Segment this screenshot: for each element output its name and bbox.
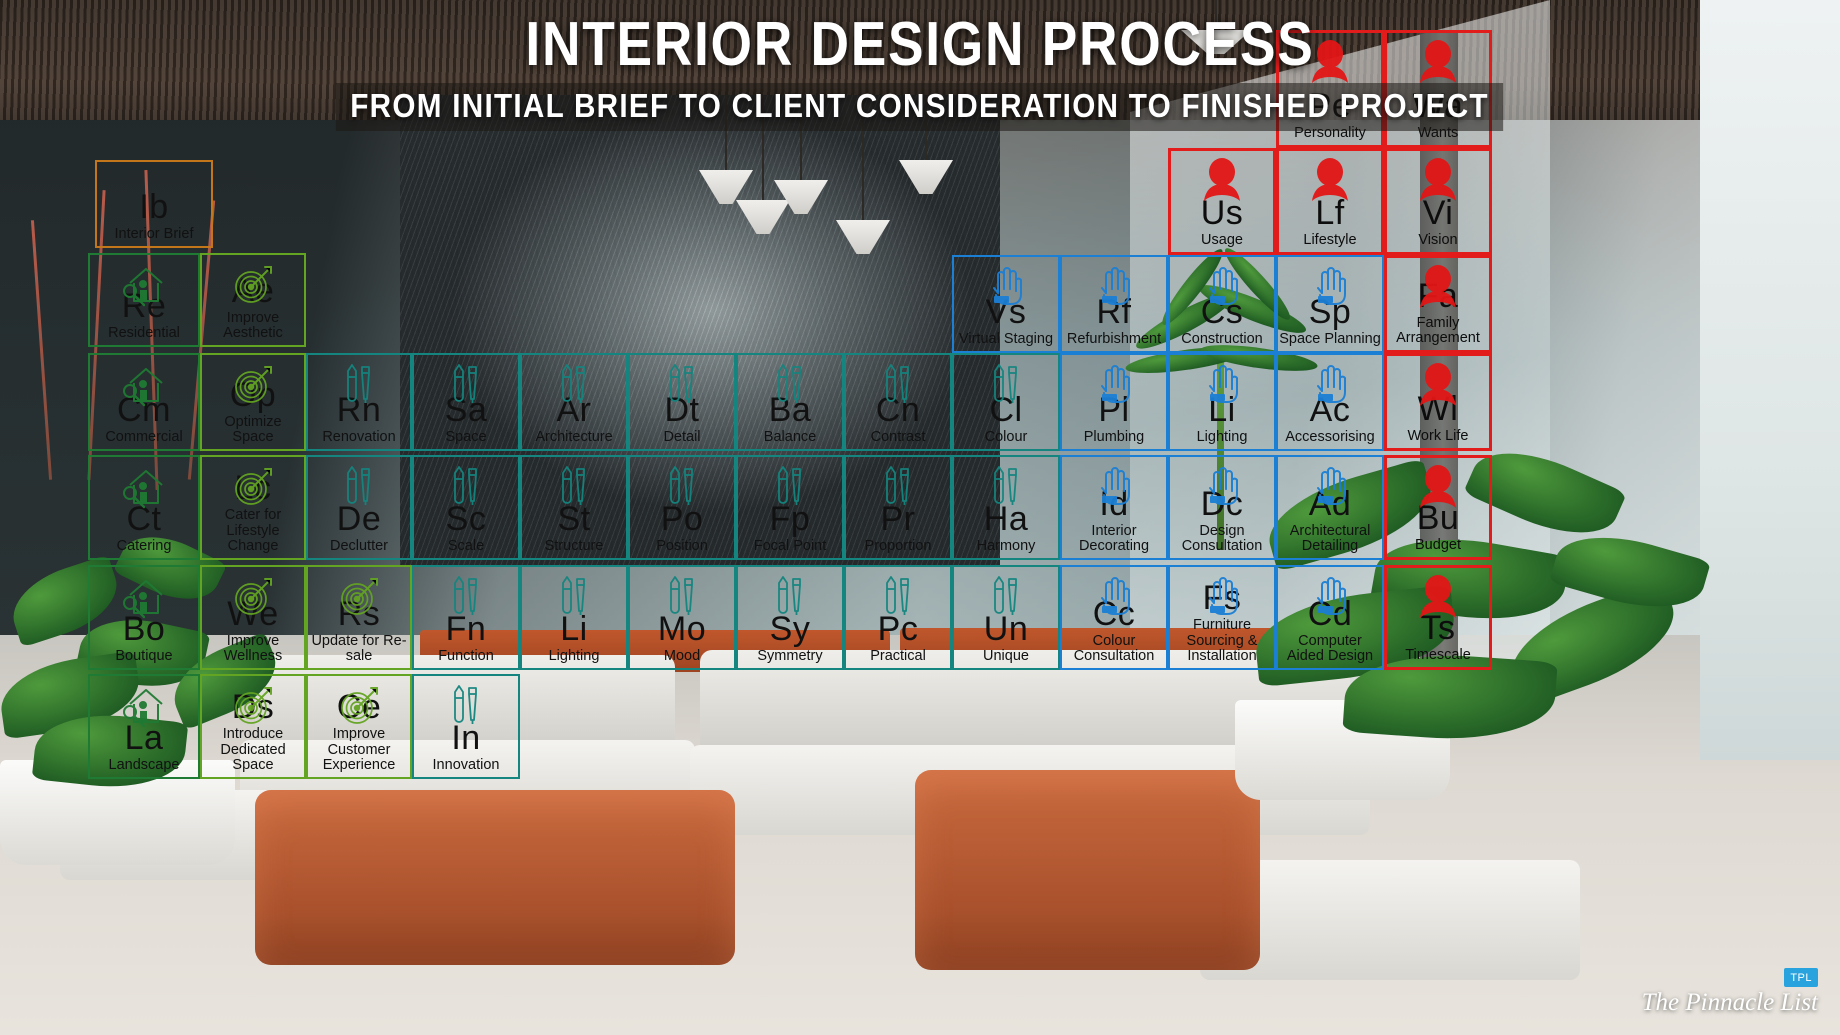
- watermark-badge: TPL: [1784, 968, 1818, 987]
- element-cell-id[interactable]: IdInterior Decorating: [1060, 455, 1168, 560]
- element-name: Renovation: [322, 430, 395, 445]
- element-cell-ib[interactable]: IbInterior Brief: [95, 160, 213, 248]
- pencil-ruler-icon: [984, 573, 1028, 619]
- element-cell-cn[interactable]: CnContrast: [844, 353, 952, 451]
- element-cell-mo[interactable]: MoMood: [628, 565, 736, 670]
- element-name: Lifestyle: [1303, 233, 1356, 248]
- element-name: Balance: [764, 430, 816, 445]
- element-name: Update for Re-sale: [309, 634, 409, 664]
- element-cell-us[interactable]: UsUsage: [1168, 148, 1276, 255]
- watermark-name: The Pinnacle List: [1642, 989, 1818, 1017]
- element-cell-ts[interactable]: TsTimescale: [1384, 565, 1492, 670]
- pencil-ruler-icon: [984, 361, 1028, 407]
- element-cell-ar[interactable]: ArArchitecture: [520, 353, 628, 451]
- target-arrow-icon: [231, 573, 275, 619]
- element-name: Unique: [983, 649, 1029, 664]
- element-symbol: Ib: [139, 190, 168, 224]
- element-cell-cl[interactable]: ClColour: [952, 353, 1060, 451]
- hand-icon: [1092, 263, 1136, 309]
- element-name: Interior Decorating: [1063, 524, 1165, 554]
- hand-icon: [1092, 361, 1136, 407]
- element-name: Catering: [117, 539, 172, 554]
- element-cell-ct[interactable]: CtCatering: [88, 455, 200, 560]
- element-name: Usage: [1201, 233, 1243, 248]
- person-icon: [1200, 157, 1244, 203]
- element-cell-pc[interactable]: PcPractical: [844, 565, 952, 670]
- element-name: Improve Customer Experience: [309, 727, 409, 773]
- pencil-ruler-icon: [337, 361, 381, 407]
- house-person-icon: [122, 361, 166, 407]
- element-name: Detail: [663, 430, 700, 445]
- page-subtitle: FROM INITIAL BRIEF TO CLIENT CONSIDERATI…: [336, 83, 1503, 131]
- pencil-ruler-icon: [552, 463, 596, 509]
- target-arrow-icon: [231, 682, 275, 728]
- element-name: Improve Wellness: [203, 634, 303, 664]
- element-name: Family Arrangement: [1388, 316, 1488, 346]
- element-cell-ac[interactable]: AcAccessorising: [1276, 353, 1384, 451]
- periodic-table-grid: IbInterior BriefReResidentialAeImprove A…: [0, 0, 1840, 1035]
- element-cell-lf[interactable]: LfLifestyle: [1276, 148, 1384, 255]
- target-arrow-icon: [337, 682, 381, 728]
- element-name: Introduce Dedicated Space: [203, 727, 303, 773]
- page-title: INTERIOR DESIGN PROCESS: [129, 12, 1711, 77]
- element-name: Refurbishment: [1067, 332, 1161, 347]
- pencil-ruler-icon: [444, 682, 488, 728]
- person-icon: [1416, 464, 1460, 510]
- pencil-ruler-icon: [768, 573, 812, 619]
- person-icon: [1308, 157, 1352, 203]
- element-cell-op[interactable]: OpOptimize Space: [200, 353, 306, 451]
- element-name: Residential: [108, 326, 180, 341]
- element-name: Work Life: [1408, 429, 1469, 444]
- element-name: Contrast: [871, 430, 926, 445]
- hand-icon: [1308, 573, 1352, 619]
- element-cell-in[interactable]: InInnovation: [412, 674, 520, 779]
- element-cell-fp[interactable]: FpFocal Point: [736, 455, 844, 560]
- hand-icon: [1200, 263, 1244, 309]
- element-cell-pl[interactable]: PlPlumbing: [1060, 353, 1168, 451]
- element-cell-rf[interactable]: RfRefurbishment: [1060, 255, 1168, 353]
- pencil-ruler-icon: [337, 463, 381, 509]
- hand-icon: [1200, 361, 1244, 407]
- element-cell-we[interactable]: WeImprove Wellness: [200, 565, 306, 670]
- pencil-ruler-icon: [552, 361, 596, 407]
- element-name: Scale: [448, 539, 484, 554]
- hand-icon: [984, 263, 1028, 309]
- element-name: Interior Brief: [115, 227, 194, 242]
- pencil-ruler-icon: [876, 463, 920, 509]
- target-arrow-icon: [231, 361, 275, 407]
- element-name: Landscape: [109, 758, 180, 773]
- element-cell-rs[interactable]: RsUpdate for Re-sale: [306, 565, 412, 670]
- hand-icon: [1308, 263, 1352, 309]
- element-name: Accessorising: [1285, 430, 1374, 445]
- element-name: Optimize Space: [203, 415, 303, 445]
- element-cell-li[interactable]: LiLighting: [1168, 353, 1276, 451]
- element-cell-ba[interactable]: BaBalance: [736, 353, 844, 451]
- element-cell-dc[interactable]: DcDesign Consultation: [1168, 455, 1276, 560]
- element-cell-li[interactable]: LiLighting: [520, 565, 628, 670]
- target-arrow-icon: [337, 573, 381, 619]
- element-name: Timescale: [1405, 648, 1471, 663]
- infographic-stage: INTERIOR DESIGN PROCESS FROM INITIAL BRI…: [0, 0, 1840, 1035]
- element-cell-cs[interactable]: CsConstruction: [1168, 255, 1276, 353]
- house-person-icon: [122, 261, 166, 307]
- element-name: Position: [656, 539, 708, 554]
- element-cell-ds[interactable]: DsIntroduce Dedicated Space: [200, 674, 306, 779]
- person-icon: [1416, 157, 1460, 203]
- target-arrow-icon: [231, 463, 275, 509]
- element-cell-rn[interactable]: RnRenovation: [306, 353, 412, 451]
- element-name: Architectural Detailing: [1279, 524, 1381, 554]
- element-cell-bu[interactable]: BuBudget: [1384, 455, 1492, 560]
- element-cell-pr[interactable]: PrProportion: [844, 455, 952, 560]
- element-name: Focal Point: [754, 539, 827, 554]
- element-name: Furniture Sourcing & Installation: [1171, 618, 1273, 664]
- house-person-icon: [122, 573, 166, 619]
- element-name: Commercial: [105, 430, 182, 445]
- element-cell-cd[interactable]: CdComputer Aided Design: [1276, 565, 1384, 670]
- hand-icon: [1092, 573, 1136, 619]
- pencil-ruler-icon: [768, 463, 812, 509]
- element-name: Budget: [1415, 538, 1461, 553]
- hand-icon: [1308, 361, 1352, 407]
- element-name: Colour Consultation: [1063, 634, 1165, 664]
- house-person-icon: [122, 463, 166, 509]
- element-cell-vs[interactable]: VsVirtual Staging: [952, 255, 1060, 353]
- element-cell-cc[interactable]: CcColour Consultation: [1060, 565, 1168, 670]
- pencil-ruler-icon: [444, 573, 488, 619]
- element-cell-ce[interactable]: CeImprove Customer Experience: [306, 674, 412, 779]
- element-name: Space: [445, 430, 486, 445]
- element-name: Structure: [545, 539, 604, 554]
- element-name: Architecture: [535, 430, 612, 445]
- element-cell-lc[interactable]: LcCater for Lifestyle Change: [200, 455, 306, 560]
- hand-icon: [1092, 463, 1136, 509]
- hand-icon: [1200, 573, 1244, 619]
- element-name: Computer Aided Design: [1279, 634, 1381, 664]
- pencil-ruler-icon: [552, 573, 596, 619]
- hand-icon: [1200, 463, 1244, 509]
- element-cell-de[interactable]: DeDeclutter: [306, 455, 412, 560]
- element-name: Practical: [870, 649, 926, 664]
- element-name: Boutique: [115, 649, 172, 664]
- element-name: Plumbing: [1084, 430, 1144, 445]
- element-cell-sa[interactable]: SaSpace: [412, 353, 520, 451]
- element-name: Symmetry: [757, 649, 822, 664]
- element-cell-fa[interactable]: FaFamily Arrangement: [1384, 255, 1492, 353]
- element-name: Construction: [1181, 332, 1262, 347]
- element-name: Improve Aesthetic: [203, 311, 303, 341]
- element-name: Design Consultation: [1171, 524, 1273, 554]
- element-name: Space Planning: [1279, 332, 1381, 347]
- target-arrow-icon: [231, 261, 275, 307]
- watermark: TPL The Pinnacle List: [1642, 968, 1818, 1017]
- pencil-ruler-icon: [984, 463, 1028, 509]
- element-cell-ha[interactable]: HaHarmony: [952, 455, 1060, 560]
- pencil-ruler-icon: [768, 361, 812, 407]
- element-cell-fn[interactable]: FnFunction: [412, 565, 520, 670]
- element-cell-vi[interactable]: ViVision: [1384, 148, 1492, 255]
- element-cell-po[interactable]: PoPosition: [628, 455, 736, 560]
- element-name: Vision: [1418, 233, 1457, 248]
- element-cell-la[interactable]: LaLandscape: [88, 674, 200, 779]
- element-name: Function: [438, 649, 494, 664]
- element-name: Proportion: [865, 539, 932, 554]
- element-name: Colour: [985, 430, 1028, 445]
- pencil-ruler-icon: [660, 573, 704, 619]
- element-cell-wl[interactable]: WlWork Life: [1384, 353, 1492, 451]
- element-cell-st[interactable]: StStructure: [520, 455, 628, 560]
- element-name: Cater for Lifestyle Change: [203, 508, 303, 554]
- headline-block: INTERIOR DESIGN PROCESS FROM INITIAL BRI…: [0, 12, 1840, 131]
- element-cell-ae[interactable]: AeImprove Aesthetic: [200, 253, 306, 347]
- hand-icon: [1308, 463, 1352, 509]
- element-name: Lighting: [549, 649, 600, 664]
- element-cell-ad[interactable]: AdArchitectural Detailing: [1276, 455, 1384, 560]
- element-cell-dt[interactable]: DtDetail: [628, 353, 736, 451]
- element-cell-cm[interactable]: CmCommercial: [88, 353, 200, 451]
- pencil-ruler-icon: [876, 361, 920, 407]
- element-cell-fs[interactable]: FsFurniture Sourcing & Installation: [1168, 565, 1276, 670]
- element-cell-re[interactable]: ReResidential: [88, 253, 200, 347]
- person-icon: [1416, 574, 1460, 620]
- element-name: Virtual Staging: [959, 332, 1053, 347]
- element-cell-sc[interactable]: ScScale: [412, 455, 520, 560]
- pencil-ruler-icon: [660, 463, 704, 509]
- pencil-ruler-icon: [444, 463, 488, 509]
- pencil-ruler-icon: [876, 573, 920, 619]
- person-icon: [1416, 362, 1460, 408]
- element-name: Harmony: [977, 539, 1036, 554]
- house-person-icon: [122, 682, 166, 728]
- pencil-ruler-icon: [444, 361, 488, 407]
- element-cell-bo[interactable]: BoBoutique: [88, 565, 200, 670]
- element-cell-sp[interactable]: SpSpace Planning: [1276, 255, 1384, 353]
- element-name: Lighting: [1197, 430, 1248, 445]
- element-cell-sy[interactable]: SySymmetry: [736, 565, 844, 670]
- element-name: Innovation: [433, 758, 500, 773]
- pencil-ruler-icon: [660, 361, 704, 407]
- element-name: Mood: [664, 649, 700, 664]
- person-icon: [1416, 264, 1460, 310]
- element-name: Declutter: [330, 539, 388, 554]
- element-cell-un[interactable]: UnUnique: [952, 565, 1060, 670]
